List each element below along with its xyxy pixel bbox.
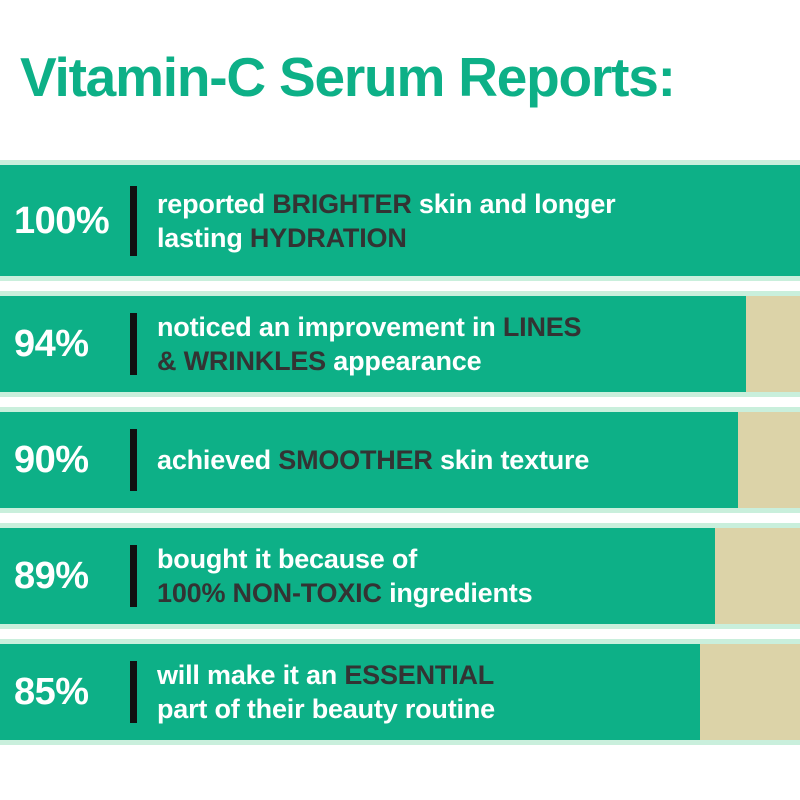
page-title: Vitamin-C Serum Reports: bbox=[0, 46, 800, 108]
stat-inner: 90% achieved SMOOTHER skin texture bbox=[0, 429, 738, 491]
stat-text: reported BRIGHTER skin and longer lastin… bbox=[157, 187, 800, 255]
stat-inner: 85% will make it an ESSENTIAL part of th… bbox=[0, 658, 700, 726]
stat-percent: 85% bbox=[0, 673, 130, 711]
stat-text-pre: will make it an bbox=[157, 660, 344, 690]
stat-text-pre: part of their beauty routine bbox=[157, 694, 495, 724]
stat-text-post: appearance bbox=[326, 346, 481, 376]
stat-percent: 90% bbox=[0, 441, 130, 479]
stat-fill: 94% noticed an improvement in LINES & WR… bbox=[0, 296, 746, 392]
stat-fill: 100% reported BRIGHTER skin and longer l… bbox=[0, 165, 800, 276]
stat-line1: reported BRIGHTER skin and longer bbox=[157, 189, 615, 219]
stat-fill: 89% bought it because of 100% NON-TOXIC … bbox=[0, 528, 715, 624]
stat-track: 89% bought it because of 100% NON-TOXIC … bbox=[0, 523, 800, 629]
stat-fill: 85% will make it an ESSENTIAL part of th… bbox=[0, 644, 700, 740]
stat-text-highlight: & WRINKLES bbox=[157, 346, 326, 376]
stat-line1: achieved SMOOTHER skin texture bbox=[157, 445, 589, 475]
stat-percent: 100% bbox=[0, 202, 130, 240]
stat-inner: 89% bought it because of 100% NON-TOXIC … bbox=[0, 542, 715, 610]
stat-row: 90% achieved SMOOTHER skin texture bbox=[0, 407, 800, 513]
stat-inner: 94% noticed an improvement in LINES & WR… bbox=[0, 310, 746, 378]
stat-track: 100% reported BRIGHTER skin and longer l… bbox=[0, 160, 800, 281]
stat-text: bought it because of 100% NON-TOXIC ingr… bbox=[157, 542, 715, 610]
stat-text-highlight: HYDRATION bbox=[250, 223, 407, 253]
stat-text: will make it an ESSENTIAL part of their … bbox=[157, 658, 700, 726]
stat-fill: 90% achieved SMOOTHER skin texture bbox=[0, 412, 738, 508]
stat-row: 85% will make it an ESSENTIAL part of th… bbox=[0, 639, 800, 745]
stat-text-pre: lasting bbox=[157, 223, 250, 253]
infographic-root: Vitamin-C Serum Reports: 100% reported B… bbox=[0, 0, 800, 800]
title-area: Vitamin-C Serum Reports: bbox=[0, 46, 800, 130]
stat-line1: bought it because of bbox=[157, 544, 417, 574]
stat-row: 100% reported BRIGHTER skin and longer l… bbox=[0, 160, 800, 281]
stat-row: 89% bought it because of 100% NON-TOXIC … bbox=[0, 523, 800, 629]
stat-text-pre: achieved bbox=[157, 445, 278, 475]
stats-list: 100% reported BRIGHTER skin and longer l… bbox=[0, 160, 800, 755]
stat-text-highlight: LINES bbox=[503, 312, 582, 342]
stat-text-pre: noticed an improvement in bbox=[157, 312, 503, 342]
stat-text-pre: bought it because of bbox=[157, 544, 417, 574]
stat-row: 94% noticed an improvement in LINES & WR… bbox=[0, 291, 800, 397]
stat-track: 90% achieved SMOOTHER skin texture bbox=[0, 407, 800, 513]
stat-text-post: skin and longer bbox=[412, 189, 616, 219]
stat-text-highlight: 100% NON-TOXIC bbox=[157, 578, 382, 608]
stat-line2: & WRINKLES appearance bbox=[157, 346, 481, 376]
stat-line2: 100% NON-TOXIC ingredients bbox=[157, 578, 532, 608]
stat-percent: 94% bbox=[0, 325, 130, 363]
stat-divider-icon bbox=[130, 186, 137, 256]
stat-divider-icon bbox=[130, 545, 137, 607]
stat-text-highlight: ESSENTIAL bbox=[344, 660, 494, 690]
stat-track: 94% noticed an improvement in LINES & WR… bbox=[0, 291, 800, 397]
stat-line2: part of their beauty routine bbox=[157, 694, 495, 724]
stat-divider-icon bbox=[130, 429, 137, 491]
stat-divider-icon bbox=[130, 313, 137, 375]
stat-text-highlight: BRIGHTER bbox=[272, 189, 411, 219]
stat-text: noticed an improvement in LINES & WRINKL… bbox=[157, 310, 746, 378]
stat-percent: 89% bbox=[0, 557, 130, 595]
stat-line2: lasting HYDRATION bbox=[157, 223, 407, 253]
stat-text-post: skin texture bbox=[433, 445, 589, 475]
stat-inner: 100% reported BRIGHTER skin and longer l… bbox=[0, 186, 800, 256]
stat-track: 85% will make it an ESSENTIAL part of th… bbox=[0, 639, 800, 745]
stat-text-pre: reported bbox=[157, 189, 272, 219]
stat-divider-icon bbox=[130, 661, 137, 723]
stat-line1: will make it an ESSENTIAL bbox=[157, 660, 494, 690]
stat-text-highlight: SMOOTHER bbox=[278, 445, 432, 475]
stat-text: achieved SMOOTHER skin texture bbox=[157, 443, 738, 477]
stat-line1: noticed an improvement in LINES bbox=[157, 312, 581, 342]
stat-text-post: ingredients bbox=[382, 578, 533, 608]
